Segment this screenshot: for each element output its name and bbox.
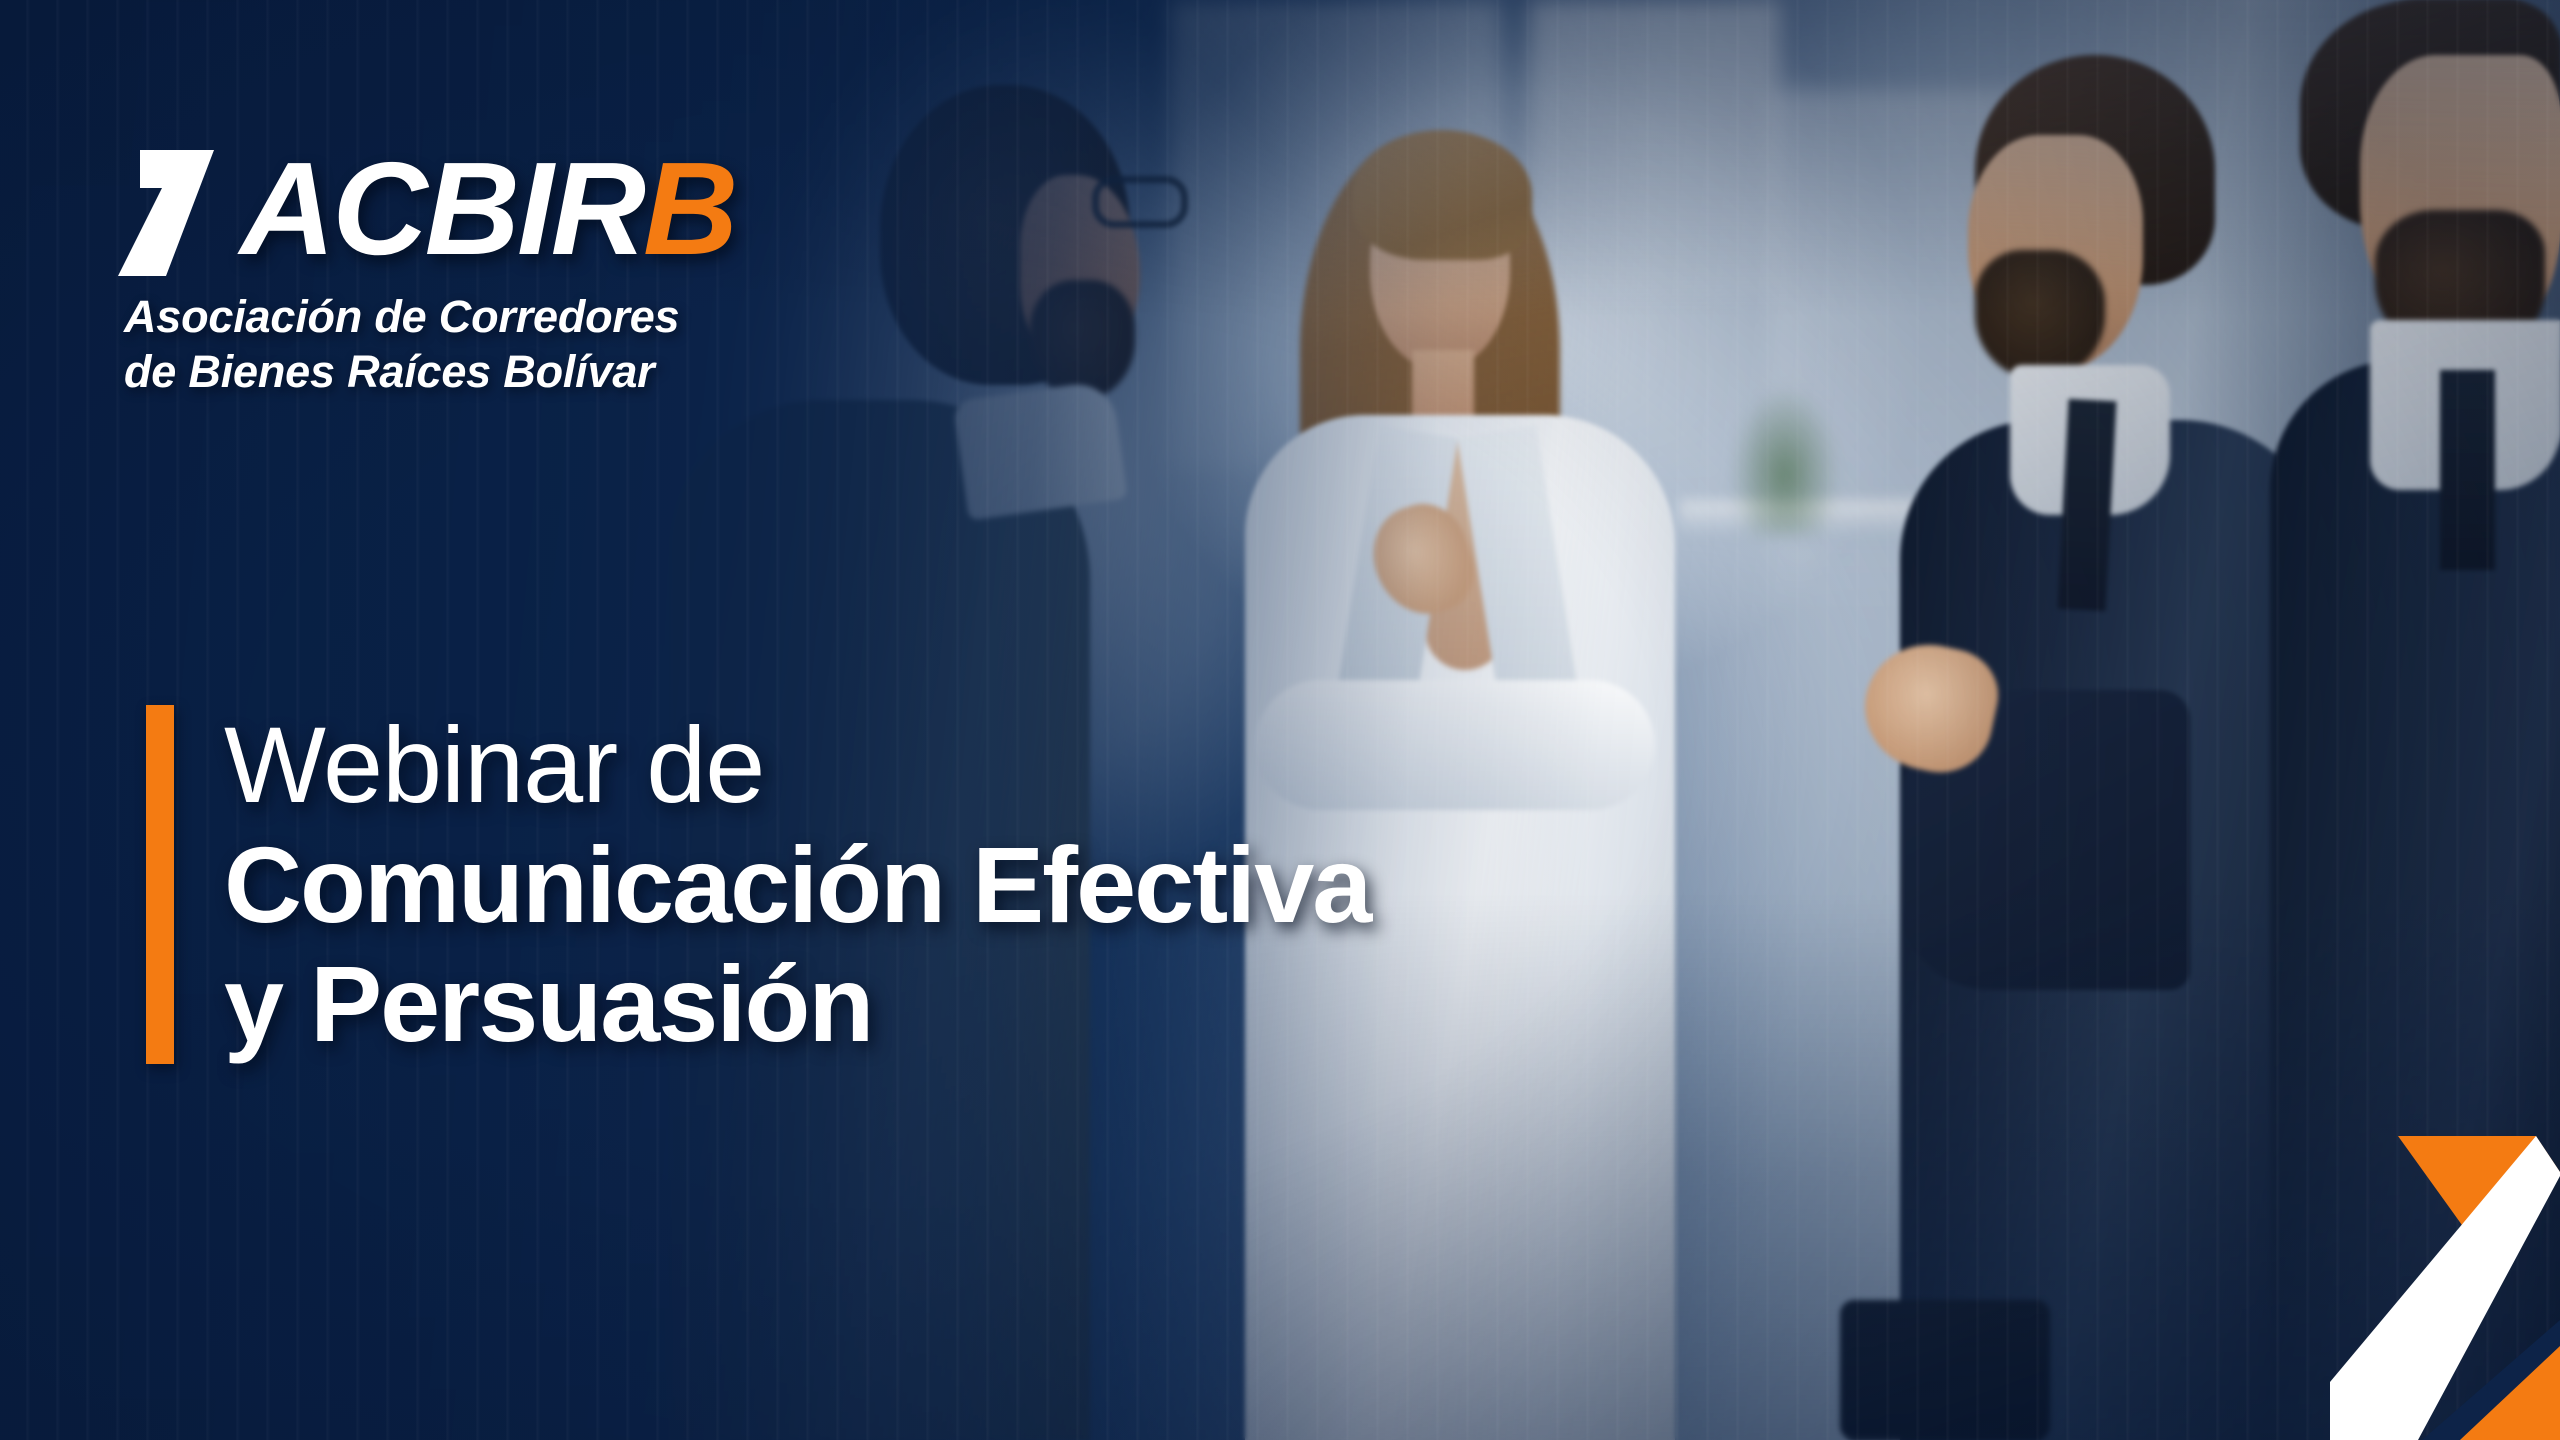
logo-wordmark-base: ACBIR (240, 135, 643, 282)
logo-tagline: Asociación de Corredores de Bienes Raíce… (118, 290, 735, 400)
logo-tagline-line-1: Asociación de Corredores (124, 290, 735, 345)
logo-wordmark-accent: B (643, 135, 735, 282)
title-accent-bar (146, 705, 174, 1064)
logo-tagline-line-2: de Bienes Raíces Bolívar (124, 345, 735, 400)
title-text-group: Webinar de Comunicación Efectiva y Persu… (174, 705, 1370, 1064)
webinar-banner: ACBIRB Asociación de Corredores de Biene… (0, 0, 2560, 1440)
page-title-line-2: Comunicación Efectiva (224, 826, 1370, 945)
webinar-title-block: Webinar de Comunicación Efectiva y Persu… (146, 705, 1370, 1064)
logo-wordmark: ACBIRB (240, 148, 735, 269)
chevron-white-arrow-icon (118, 148, 236, 276)
acbirb-logo: ACBIRB Asociación de Corredores de Biene… (118, 148, 735, 400)
page-title-line-3: y Persuasión (224, 945, 1370, 1064)
corner-chevron-decoration-icon (2330, 1120, 2560, 1440)
page-title-line-1: Webinar de (224, 705, 1370, 826)
acbirb-chevron-mark-icon (118, 148, 236, 276)
logo-wordmark-row: ACBIRB (118, 148, 735, 276)
